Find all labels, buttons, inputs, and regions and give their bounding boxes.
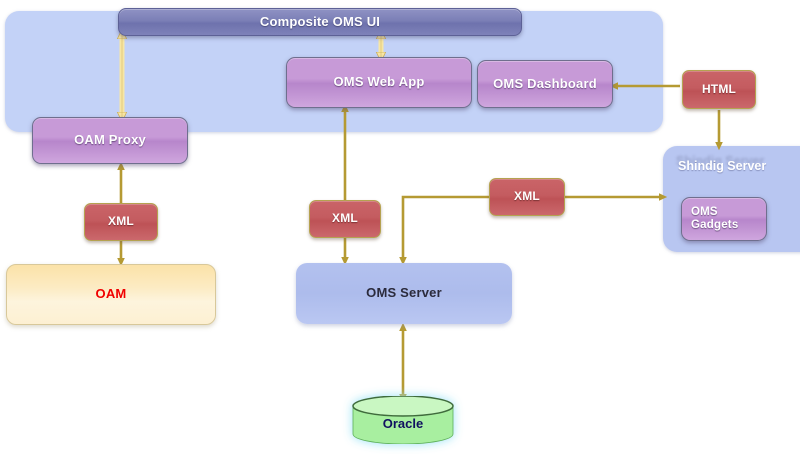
- composite-oms-ui-bar[interactable]: Composite OMS UI: [118, 8, 522, 36]
- oam-proxy-box[interactable]: OAM Proxy: [32, 117, 188, 164]
- composite-oms-ui-label: Composite OMS UI: [260, 15, 380, 30]
- oms-gadgets-label-line2: Gadgets: [691, 219, 738, 231]
- shindig-server-title: Shindig Server: [678, 159, 766, 173]
- xml-left-label: XML: [108, 215, 134, 229]
- xml-box-center[interactable]: XML: [309, 200, 381, 238]
- oam-box[interactable]: OAM: [6, 264, 216, 325]
- oms-gadgets-box[interactable]: OMSGadgets: [681, 197, 767, 241]
- xml-center-label: XML: [332, 212, 358, 226]
- oam-proxy-label: OAM Proxy: [74, 133, 146, 148]
- oms-server-box[interactable]: OMS Server: [296, 263, 512, 324]
- html-label: HTML: [702, 83, 736, 97]
- oms-web-app-label: OMS Web App: [333, 75, 424, 90]
- oms-dashboard-box[interactable]: OMS Dashboard: [477, 60, 613, 108]
- oracle-label: Oracle: [351, 416, 455, 431]
- diagram-canvas: Shindig Server Shindig Server: [0, 0, 800, 454]
- oms-server-label: OMS Server: [366, 286, 442, 301]
- xml-right-label: XML: [514, 190, 540, 204]
- xml-box-left[interactable]: XML: [84, 203, 158, 241]
- oam-label: OAM: [96, 287, 127, 302]
- html-box[interactable]: HTML: [682, 70, 756, 109]
- oracle-database[interactable]: Oracle: [351, 396, 455, 444]
- oms-web-app-box[interactable]: OMS Web App: [286, 57, 472, 108]
- oms-gadgets-label-line1: OMS: [691, 206, 718, 218]
- xml-box-right[interactable]: XML: [489, 178, 565, 216]
- oms-gadgets-label: OMSGadgets: [691, 206, 738, 232]
- oms-dashboard-label: OMS Dashboard: [493, 77, 597, 92]
